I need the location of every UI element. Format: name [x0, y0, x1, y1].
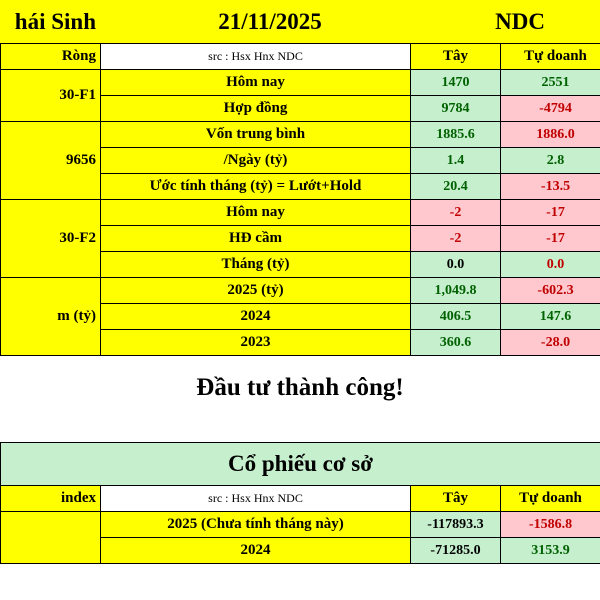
row-name: /Ngày (tỷ): [101, 148, 411, 174]
row-value-tay: -117893.3: [411, 512, 501, 538]
row-name: Tháng (tỷ): [101, 252, 411, 278]
group-label-9656: 9656: [1, 122, 101, 200]
col-header-src: src : Hsx Hnx NDC: [101, 486, 411, 512]
col-header-tay: Tây: [411, 486, 501, 512]
header-code: NDC: [440, 0, 600, 43]
table-row: 9656 Vốn trung bình 1885.6 1886.0: [1, 122, 600, 148]
row-value-tudoanh: 2551: [501, 70, 600, 96]
col-header-rong: Ròng: [1, 44, 101, 70]
table-row: 2025 (Chưa tính tháng này) -117893.3 -15…: [1, 512, 600, 538]
row-value-tudoanh: -602.3: [501, 278, 600, 304]
row-name: 2025 (Chưa tính tháng này): [101, 512, 411, 538]
col-header-tudoanh: Tự doanh: [501, 486, 600, 512]
col-header-tay: Tây: [411, 44, 501, 70]
spreadsheet-view: hái Sinh 21/11/2025 NDC Ròng src : Hsx H…: [0, 0, 600, 600]
table-row: m (tỷ) 2025 (tỷ) 1,049.8 -602.3: [1, 278, 600, 304]
table-row: 30-F2 Hôm nay -2 -17: [1, 200, 600, 226]
row-value-tudoanh: 2.8: [501, 148, 600, 174]
row-name: HĐ cầm: [101, 226, 411, 252]
row-name: Ước tính tháng (tỷ) = Lướt+Hold: [101, 174, 411, 200]
table-row: 30-F1 Hôm nay 1470 2551: [1, 70, 600, 96]
row-name: 2024: [101, 538, 411, 564]
row-value-tay: 0.0: [411, 252, 501, 278]
group-label-nam: m (tỷ): [1, 278, 101, 356]
row-name: 2024: [101, 304, 411, 330]
spacer: [0, 418, 600, 442]
row-name: 2023: [101, 330, 411, 356]
row-value-tay: 1470: [411, 70, 501, 96]
row-value-tudoanh: -4794: [501, 96, 600, 122]
header-table: hái Sinh 21/11/2025 NDC: [0, 0, 600, 43]
row-value-tay: 1.4: [411, 148, 501, 174]
row-value-tay: -71285.0: [411, 538, 501, 564]
bottom-title: Cổ phiếu cơ sở: [1, 443, 600, 486]
row-value-tudoanh: 0.0: [501, 252, 600, 278]
slogan-text: Đầu tư thành công!: [0, 356, 600, 418]
row-name: Hôm nay: [101, 200, 411, 226]
group-label-f1: 30-F1: [1, 70, 101, 122]
row-value-tudoanh: -17: [501, 226, 600, 252]
row-value-tay: -2: [411, 200, 501, 226]
row-name: Vốn trung bình: [101, 122, 411, 148]
bottom-group-label: [1, 512, 101, 564]
row-value-tudoanh: -28.0: [501, 330, 600, 356]
row-value-tudoanh: -17: [501, 200, 600, 226]
col-header-index: index: [1, 486, 101, 512]
row-value-tay: 1885.6: [411, 122, 501, 148]
row-value-tudoanh: 147.6: [501, 304, 600, 330]
row-value-tudoanh: -13.5: [501, 174, 600, 200]
header-date: 21/11/2025: [100, 0, 440, 43]
row-value-tay: -2: [411, 226, 501, 252]
row-value-tay: 1,049.8: [411, 278, 501, 304]
header-left-label: hái Sinh: [0, 0, 100, 43]
row-value-tay: 20.4: [411, 174, 501, 200]
row-value-tudoanh: -1586.8: [501, 512, 600, 538]
bottom-title-row: Cổ phiếu cơ sở: [1, 443, 600, 486]
row-value-tay: 406.5: [411, 304, 501, 330]
row-value-tudoanh: 1886.0: [501, 122, 600, 148]
header-row: hái Sinh 21/11/2025 NDC: [0, 0, 600, 43]
top-data-table: Ròng src : Hsx Hnx NDC Tây Tự doanh C 30…: [0, 43, 600, 356]
row-name: Hợp đồng: [101, 96, 411, 122]
column-header-row: Ròng src : Hsx Hnx NDC Tây Tự doanh C: [1, 44, 600, 70]
row-value-tay: 9784: [411, 96, 501, 122]
row-name: 2025 (tỷ): [101, 278, 411, 304]
row-name: Hôm nay: [101, 70, 411, 96]
row-value-tay: 360.6: [411, 330, 501, 356]
group-label-f2: 30-F2: [1, 200, 101, 278]
bottom-column-header-row: index src : Hsx Hnx NDC Tây Tự doanh: [1, 486, 600, 512]
col-header-tudoanh: Tự doanh: [501, 44, 600, 70]
col-header-src: src : Hsx Hnx NDC: [101, 44, 411, 70]
bottom-table: Cổ phiếu cơ sở index src : Hsx Hnx NDC T…: [0, 442, 600, 564]
row-value-tudoanh: 3153.9: [501, 538, 600, 564]
